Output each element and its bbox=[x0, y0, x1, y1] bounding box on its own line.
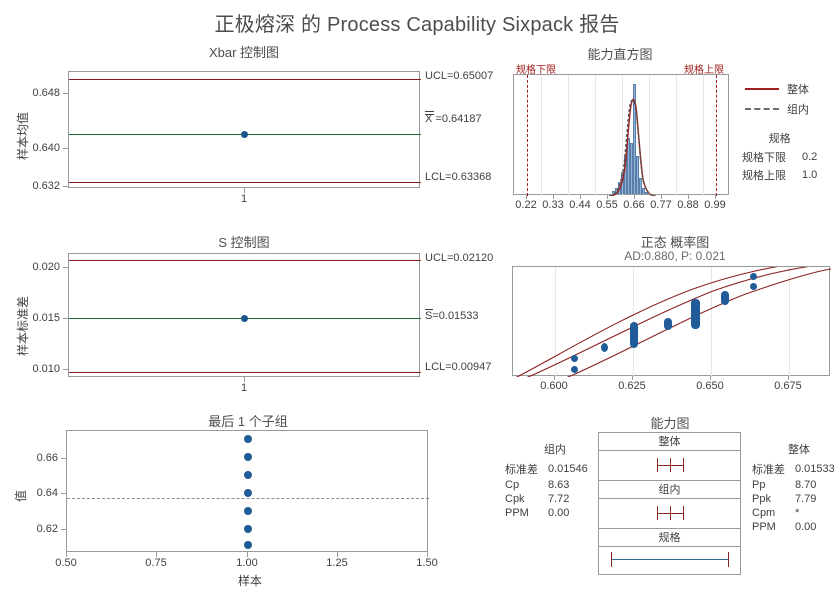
spec-limits-table: 规格 规格下限 0.2 规格上限 1.0 bbox=[742, 130, 817, 184]
within-ppm-label: PPM bbox=[505, 506, 548, 520]
last-subgroup-xtick-0: 0.50 bbox=[46, 557, 86, 569]
within-cp-label: Cp bbox=[505, 478, 548, 492]
last-subgroup-xtick-4: 1.50 bbox=[407, 557, 447, 569]
probability-point-cluster bbox=[630, 322, 638, 348]
last-subgroup-plot-area bbox=[66, 430, 428, 552]
capability-section-within-header: 组内 bbox=[599, 481, 740, 499]
xbar-ytick-1: 0.640 bbox=[18, 142, 60, 154]
xbar-ytick-2: 0.648 bbox=[18, 87, 60, 99]
probability-plot-subtitle: AD:0.880, P: 0.021 bbox=[560, 249, 790, 263]
probability-point bbox=[571, 355, 578, 362]
within-marker-tick bbox=[670, 506, 671, 520]
xbar-data-point bbox=[241, 131, 248, 138]
last-subgroup-ytick-0: 0.62 bbox=[14, 523, 58, 535]
last-subgroup-xtick-2: 1.00 bbox=[227, 557, 267, 569]
last-subgroup-x-axis-label: 样本 bbox=[0, 572, 500, 589]
legend-within-swatch bbox=[745, 108, 779, 110]
within-sd-label: 标准差 bbox=[505, 460, 548, 478]
overall-sd-value: 0.01533 bbox=[795, 460, 834, 478]
spec-table-row: 规格下限 0.2 bbox=[742, 148, 817, 166]
probability-point-cluster bbox=[664, 318, 672, 330]
s-lcl-line bbox=[69, 372, 421, 373]
last-subgroup-point bbox=[244, 435, 252, 443]
spec-table-header: 规格 bbox=[742, 130, 817, 146]
last-subgroup-ytick-2: 0.66 bbox=[14, 452, 58, 464]
capability-section-overall-header: 整体 bbox=[599, 433, 740, 451]
last-subgroup-ytick-1: 0.64 bbox=[14, 487, 58, 499]
overall-pp-label: Pp bbox=[752, 478, 795, 492]
probability-point bbox=[571, 366, 578, 373]
histogram-fitted-curves bbox=[514, 75, 730, 196]
spec-lsl-label: 规格下限 bbox=[742, 148, 786, 166]
overall-cpm-value: * bbox=[795, 506, 834, 520]
histogram-xtick-7: 0.99 bbox=[699, 199, 731, 211]
spec-lsl-value: 0.2 bbox=[786, 148, 817, 166]
within-stats-block: 组内 标准差 0.01546 Cp 8.63 Cpk 7.72 PPM 0.00 bbox=[505, 441, 605, 520]
probability-point-cluster bbox=[691, 299, 700, 329]
within-cpk-value: 7.72 bbox=[548, 492, 594, 506]
within-cpk-label: Cpk bbox=[505, 492, 548, 506]
xbar-ucl-label: UCL=0.65007 bbox=[425, 70, 493, 82]
s-ucl-line bbox=[69, 260, 421, 261]
spec-lsl-tick bbox=[611, 552, 612, 567]
xbar-lcl-line bbox=[69, 182, 421, 183]
legend-within-label: 组内 bbox=[787, 101, 809, 117]
capability-plot-title: 能力图 bbox=[570, 413, 770, 432]
s-xtick-0: 1 bbox=[224, 382, 264, 394]
last-subgroup-point bbox=[244, 541, 252, 549]
last-subgroup-xtick-3: 1.25 bbox=[317, 557, 357, 569]
overall-stat-row: Ppk 7.79 bbox=[752, 492, 834, 506]
spec-range-line bbox=[611, 559, 729, 560]
within-marker-tick bbox=[683, 506, 684, 520]
s-plot-area bbox=[68, 253, 420, 377]
spec-usl-value: 1.0 bbox=[786, 166, 817, 184]
spec-table-row: 规格上限 1.0 bbox=[742, 166, 817, 184]
s-ytick-2: 0.020 bbox=[18, 261, 60, 273]
within-stat-row: 标准差 0.01546 bbox=[505, 460, 594, 478]
capability-section-spec-header: 规格 bbox=[599, 529, 740, 547]
overall-ppm-value: 0.00 bbox=[795, 520, 834, 534]
s-y-axis-label: 样本标准差 bbox=[14, 296, 31, 356]
within-stat-row: Cpk 7.72 bbox=[505, 492, 594, 506]
overall-ppm-label: PPM bbox=[752, 520, 795, 534]
probability-plot-area bbox=[512, 266, 830, 376]
probability-point bbox=[750, 273, 757, 280]
probability-xtick-1: 0.625 bbox=[612, 380, 652, 392]
overall-stat-row: 标准差 0.01533 bbox=[752, 460, 834, 478]
within-sd-value: 0.01546 bbox=[548, 460, 594, 478]
within-ppm-value: 0.00 bbox=[548, 506, 594, 520]
fit-line bbox=[521, 267, 831, 377]
overall-pp-value: 8.70 bbox=[795, 478, 834, 492]
spec-usl-tick bbox=[728, 552, 729, 567]
process-capability-sixpack-report: 正极熔深 的 Process Capability Sixpack 报告 Xba… bbox=[0, 0, 834, 592]
legend-overall-label: 整体 bbox=[787, 81, 809, 97]
report-title: 正极熔深 的 Process Capability Sixpack 报告 bbox=[0, 8, 834, 37]
overall-stats-block: 整体 标准差 0.01533 Pp 8.70 Ppk 7.79 Cpm * PP… bbox=[752, 441, 834, 534]
s-ytick-0: 0.010 bbox=[18, 363, 60, 375]
s-ytick-1: 0.015 bbox=[18, 312, 60, 324]
overall-stats-header: 整体 bbox=[752, 441, 834, 457]
xbar-center-value: =0.64187 bbox=[435, 113, 481, 125]
within-stats-header: 组内 bbox=[505, 441, 605, 457]
s-data-point bbox=[241, 315, 248, 322]
s-ucl-label: UCL=0.02120 bbox=[425, 252, 493, 264]
xbar-plot-area bbox=[68, 71, 420, 188]
within-stat-row: Cp 8.63 bbox=[505, 478, 594, 492]
last-subgroup-title: 最后 1 个子组 bbox=[68, 411, 428, 430]
last-subgroup-point bbox=[244, 471, 252, 479]
overall-marker-tick bbox=[657, 458, 658, 472]
last-subgroup-point bbox=[244, 489, 252, 497]
capability-plot-box: 整体 组内 规格 bbox=[598, 432, 741, 575]
last-subgroup-point bbox=[244, 525, 252, 533]
within-stat-row: PPM 0.00 bbox=[505, 506, 594, 520]
overall-stat-row: Pp 8.70 bbox=[752, 478, 834, 492]
xbar-xtick-0: 1 bbox=[224, 193, 264, 205]
probability-point bbox=[601, 343, 608, 352]
probability-point bbox=[750, 283, 757, 290]
s-center-label: S =0.01533 bbox=[425, 310, 479, 322]
spec-usl-label: 规格上限 bbox=[742, 166, 786, 184]
s-center-value: =0.01533 bbox=[432, 310, 478, 322]
overall-stat-row: PPM 0.00 bbox=[752, 520, 834, 534]
overall-marker-tick bbox=[683, 458, 684, 472]
s-center-symbol: S bbox=[425, 310, 432, 322]
within-marker-tick bbox=[657, 506, 658, 520]
xbar-center-label: X =0.64187 bbox=[425, 113, 482, 125]
xbar-chart-title: Xbar 控制图 bbox=[68, 42, 420, 61]
xbar-ucl-line bbox=[69, 79, 421, 80]
probability-xtick-2: 0.650 bbox=[690, 380, 730, 392]
xbar-lcl-label: LCL=0.63368 bbox=[425, 171, 491, 183]
probability-fit-lines bbox=[513, 267, 831, 377]
overall-ppk-value: 7.79 bbox=[795, 492, 834, 506]
last-subgroup-xtick-1: 0.75 bbox=[136, 557, 176, 569]
last-subgroup-point bbox=[244, 453, 252, 461]
legend-overall-swatch bbox=[745, 88, 779, 90]
overall-marker-tick bbox=[670, 458, 671, 472]
within-cp-value: 8.63 bbox=[548, 478, 594, 492]
last-subgroup-mean-line bbox=[67, 498, 429, 499]
s-chart-title: S 控制图 bbox=[68, 232, 420, 251]
xbar-ytick-0: 0.632 bbox=[18, 180, 60, 192]
within-curve bbox=[609, 100, 656, 196]
last-subgroup-point bbox=[244, 507, 252, 515]
overall-curve bbox=[610, 99, 655, 196]
overall-stat-row: Cpm * bbox=[752, 506, 834, 520]
overall-ppk-label: Ppk bbox=[752, 492, 795, 506]
histogram-plot-area bbox=[513, 74, 729, 195]
probability-xtick-0: 0.600 bbox=[534, 380, 574, 392]
s-lcl-label: LCL=0.00947 bbox=[425, 361, 491, 373]
overall-sd-label: 标准差 bbox=[752, 460, 795, 478]
overall-cpm-label: Cpm bbox=[752, 506, 795, 520]
probability-point-cluster bbox=[721, 291, 729, 305]
probability-xtick-3: 0.675 bbox=[768, 380, 808, 392]
